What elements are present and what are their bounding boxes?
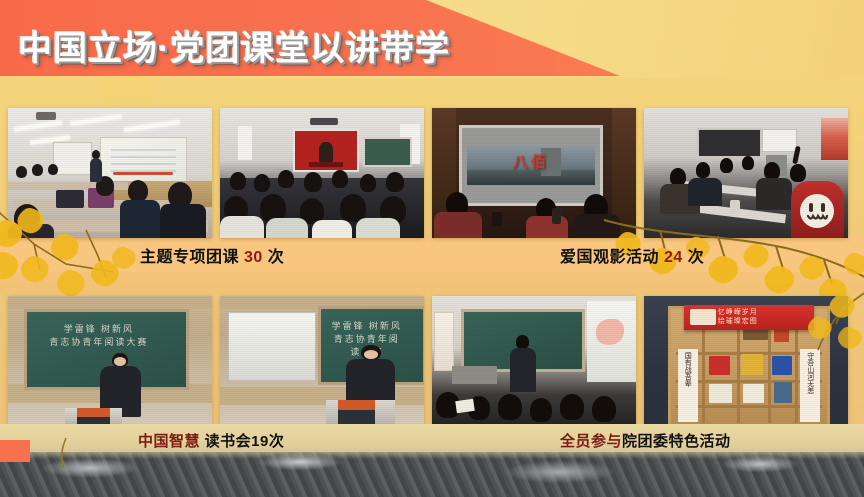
student-head	[696, 162, 710, 178]
screen-podium	[309, 162, 343, 167]
couplet-right: 国有战吾辈	[678, 349, 698, 422]
photo-thumbnail-3[interactable]: 八佰	[432, 108, 636, 238]
caption-prefix: 中国智慧	[138, 433, 200, 450]
photo-thumbnail-1[interactable]	[8, 108, 212, 238]
chalk-line-1: 学雷锋 树新风	[331, 320, 402, 333]
caption-prefix: 全员参与	[560, 433, 622, 450]
student-head	[742, 156, 754, 170]
shelf-item	[709, 384, 732, 403]
banner-line-1: 忆峥嵘岁月	[718, 308, 758, 317]
student-body	[160, 204, 206, 238]
screen-speaker-figure	[319, 142, 334, 162]
smiley-mouth-icon	[800, 194, 834, 228]
photo-thumbnail-8[interactable]: 国有战吾辈 守吾山河无恙 忆峥嵘岁月 绘璀璨宏图	[644, 296, 848, 426]
caption-prefix: 主题专项团课	[140, 249, 244, 266]
caption-row2-col1: 中国智慧 读书会19次	[138, 430, 284, 451]
photo-thumbnail-2[interactable]	[220, 108, 424, 238]
blackboard	[697, 128, 762, 158]
shelf-item	[743, 384, 765, 403]
water-bottle	[492, 212, 502, 226]
caption-number: 30	[244, 249, 263, 266]
shelf-item	[709, 356, 731, 375]
photo-5-content: 学雷锋 树新风 青志协青年阅读大赛	[8, 296, 212, 426]
projection-screen-ceremony	[293, 129, 358, 172]
emblem-icon	[690, 309, 716, 325]
caption-suffix: 院团委特色活动	[622, 433, 731, 450]
audience-head	[386, 172, 404, 192]
movie-rubble	[467, 170, 595, 185]
photo-8-content: 国有战吾辈 守吾山河无恙 忆峥嵘岁月 绘璀璨宏图	[644, 296, 848, 426]
photo-6-content: 学雷锋 树新风 青志协青年阅读大赛	[220, 296, 424, 426]
projection-screen-map	[587, 301, 636, 382]
photo-7-content	[432, 296, 636, 426]
photo-3-content: 八佰	[432, 108, 636, 238]
audience-shoulders	[220, 216, 264, 238]
caption-row1-col1: 主题专项团课 30 次	[140, 243, 284, 267]
water-bottle	[730, 200, 740, 214]
student-body	[8, 224, 54, 238]
photo-1-content	[8, 108, 212, 238]
whiteboard	[762, 129, 797, 152]
thermos	[552, 208, 561, 224]
audience-head	[498, 394, 522, 420]
caption-suffix: 次	[683, 249, 704, 266]
audience-head	[304, 172, 322, 192]
speaker-head	[516, 335, 529, 349]
background-tan-band	[0, 272, 864, 294]
student-body	[688, 178, 722, 206]
speaker-shirt	[510, 348, 537, 393]
audience-head	[230, 172, 246, 190]
teacher-body	[90, 158, 102, 182]
slide-red-chart	[113, 172, 173, 175]
audience-shoulders	[356, 218, 400, 238]
banner-text: 忆峥嵘岁月 绘璀璨宏图	[718, 308, 758, 326]
photo-thumbnail-4[interactable]	[644, 108, 848, 238]
projection-screen	[100, 137, 188, 183]
cinema-screen: 八佰	[459, 125, 604, 206]
projection-screen	[228, 312, 316, 382]
caption-prefix: 爱国观影活动	[560, 249, 664, 266]
chalk-line-1: 学雷锋 树新风	[43, 323, 154, 336]
page-title: 中国立场·党团课堂以讲带学	[18, 21, 450, 70]
blackboard	[363, 137, 412, 167]
photo-thumbnail-7[interactable]	[432, 296, 636, 426]
viewer-body	[526, 216, 568, 238]
photo-2-content	[220, 108, 424, 238]
audience-head	[254, 174, 270, 192]
hanging-twig-decoration-icon	[52, 438, 76, 474]
caption-number: 24	[664, 249, 683, 266]
audience-head	[332, 170, 348, 188]
wall-scroll	[434, 312, 454, 371]
audience-head	[360, 174, 376, 192]
display-cabinet: 国有战吾辈 守吾山河无恙 忆峥嵘岁月 绘璀璨宏图	[668, 306, 829, 426]
couplet-left: 守吾山河无恙	[800, 349, 820, 422]
student-head	[128, 180, 148, 202]
caption-row1-col2: 爱国观影活动 24 次	[560, 243, 704, 267]
student-head	[48, 164, 58, 175]
podium-red-panel	[77, 408, 110, 417]
student-body	[756, 178, 792, 210]
audience-head	[592, 396, 616, 422]
audience-head	[560, 394, 584, 420]
speaker	[510, 335, 537, 392]
wall-poster	[821, 118, 848, 160]
viewer-body	[574, 214, 620, 238]
handout-paper	[455, 399, 474, 413]
caption-row2-col2: 全员参与院团委特色活动	[560, 430, 731, 451]
shelf-item	[772, 356, 792, 375]
slide-content	[111, 146, 176, 173]
rock-top-edge	[0, 449, 864, 459]
photo-thumbnail-5[interactable]: 学雷锋 树新风 青志协青年阅读大赛	[8, 296, 212, 426]
whiteboard	[53, 142, 92, 175]
projector	[36, 112, 56, 120]
movie-still: 八佰	[467, 146, 595, 185]
wall-panel	[8, 296, 212, 309]
window	[238, 126, 252, 160]
audience-shoulders	[312, 220, 352, 238]
smiley-face-graphic-icon	[800, 194, 834, 228]
couplet-left-text: 守吾山河无恙	[806, 352, 815, 394]
viewer-body	[434, 212, 482, 238]
left-orange-sliver	[0, 440, 30, 462]
shelf-item	[741, 354, 763, 375]
exhibition-banner: 忆峥嵘岁月 绘璀璨宏图	[684, 305, 814, 331]
movie-title-text: 八佰	[467, 151, 595, 172]
shelf-item	[774, 382, 793, 403]
banner-line-2: 绘璀璨宏图	[718, 317, 758, 326]
student-head	[720, 158, 733, 173]
side-cabinet	[452, 366, 497, 384]
chalk-line-2: 青志协青年阅读大赛	[43, 336, 154, 349]
slide-root: 中国立场·党团课堂以讲带学	[0, 0, 864, 497]
student-head	[16, 166, 27, 178]
photo-4-content	[644, 108, 848, 238]
student-head	[32, 164, 43, 176]
student-head-raised-hand	[790, 164, 806, 182]
caption-suffix: 次	[263, 249, 284, 266]
ceiling-projector	[310, 118, 339, 125]
student-body	[120, 200, 160, 238]
audience-head	[530, 398, 552, 422]
photo-thumbnail-6[interactable]: 学雷锋 树新风 青志协青年阅读大赛	[220, 296, 424, 426]
map-graphic	[596, 319, 624, 345]
couplet-right-text: 国有战吾辈	[683, 352, 692, 387]
laptop	[56, 190, 84, 208]
caption-suffix: 读书会19次	[200, 433, 284, 450]
chalk-text: 学雷锋 树新风 青志协青年阅读大赛	[43, 323, 154, 349]
speaker-face	[364, 350, 378, 359]
podium-red-panel	[338, 400, 375, 410]
audience-head	[278, 170, 294, 188]
audience-shoulders	[266, 218, 308, 238]
